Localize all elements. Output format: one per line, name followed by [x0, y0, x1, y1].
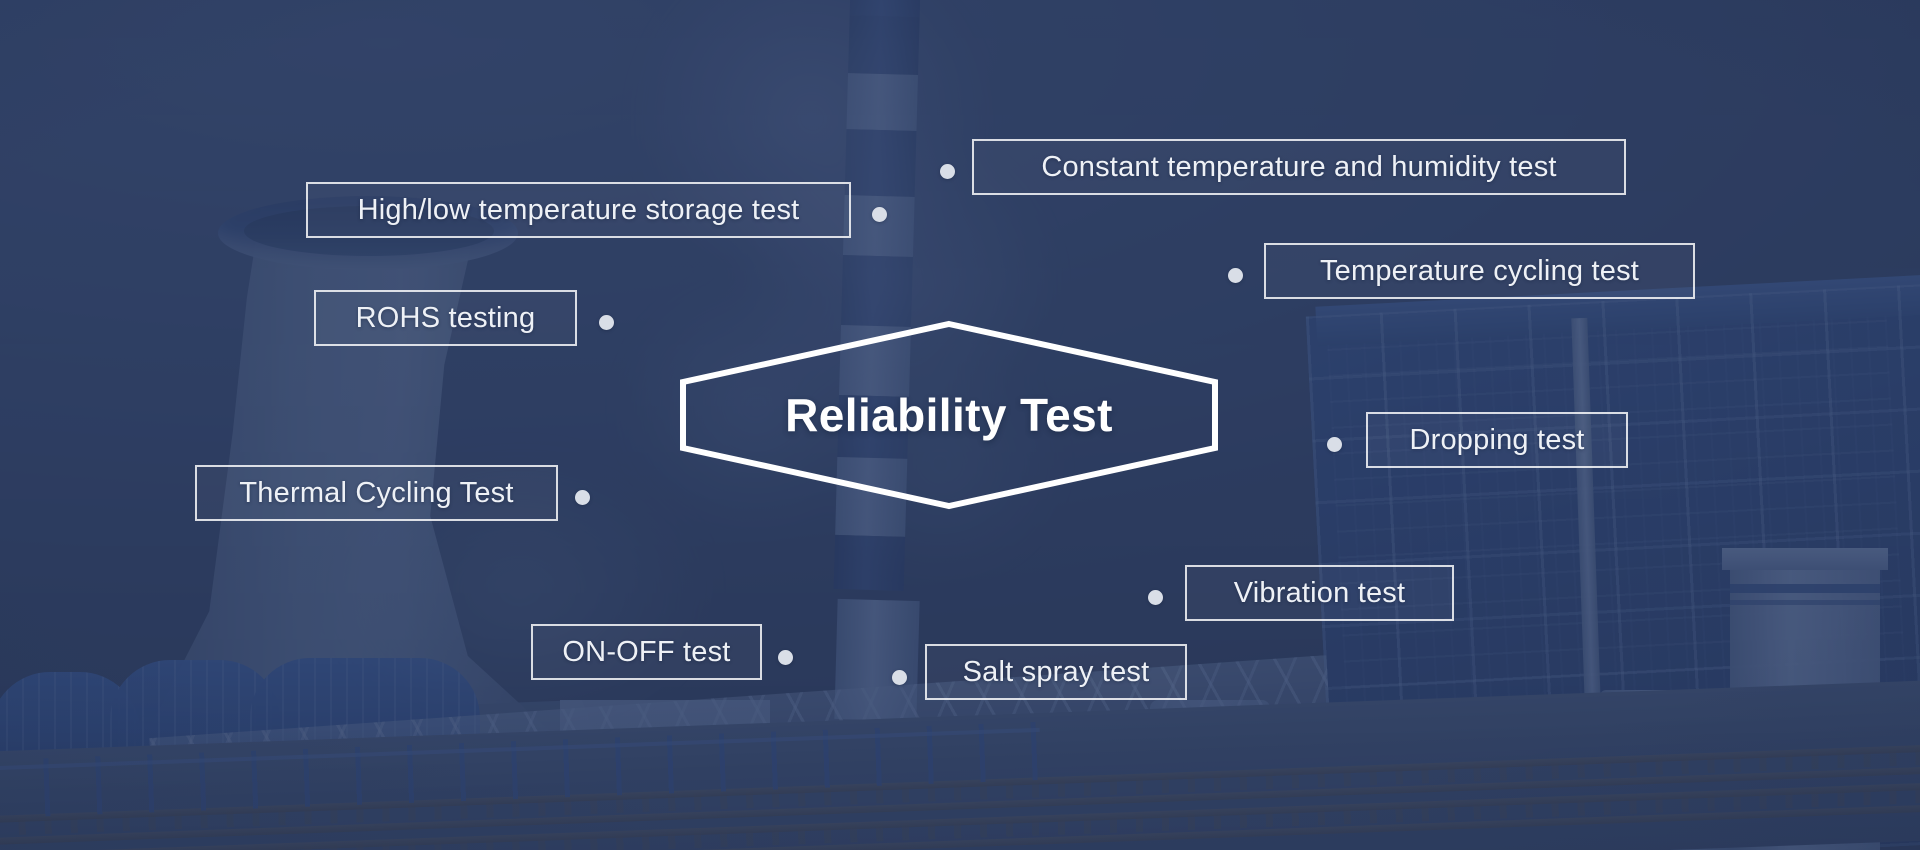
dot-dropping-test	[1327, 437, 1342, 452]
center-hexagon: Reliability Test	[679, 320, 1219, 510]
dot-vibration-test	[1148, 590, 1163, 605]
label-salt-spray-test[interactable]: Salt spray test	[925, 644, 1187, 700]
dot-constant-temperature-and-humidity-test	[940, 164, 955, 179]
page-title: Reliability Test	[679, 320, 1219, 510]
label-on-off-test[interactable]: ON-OFF test	[531, 624, 762, 680]
label-temperature-cycling-test[interactable]: Temperature cycling test	[1264, 243, 1695, 299]
label-vibration-test[interactable]: Vibration test	[1185, 565, 1454, 621]
label-thermal-cycling-test[interactable]: Thermal Cycling Test	[195, 465, 558, 521]
dot-temperature-cycling-test	[1228, 268, 1243, 283]
label-dropping-test[interactable]: Dropping test	[1366, 412, 1628, 468]
reliability-test-banner: Reliability Test Constant temperature an…	[0, 0, 1920, 850]
dot-high-low-temperature-storage-test	[872, 207, 887, 222]
label-high-low-temperature-storage-test[interactable]: High/low temperature storage test	[306, 182, 851, 238]
dot-on-off-test	[778, 650, 793, 665]
dot-rohs-testing	[599, 315, 614, 330]
label-constant-temperature-and-humidity-test[interactable]: Constant temperature and humidity test	[972, 139, 1626, 195]
dot-thermal-cycling-test	[575, 490, 590, 505]
dot-salt-spray-test	[892, 670, 907, 685]
diagram-overlay: Reliability Test Constant temperature an…	[0, 0, 1920, 850]
label-rohs-testing[interactable]: ROHS testing	[314, 290, 577, 346]
